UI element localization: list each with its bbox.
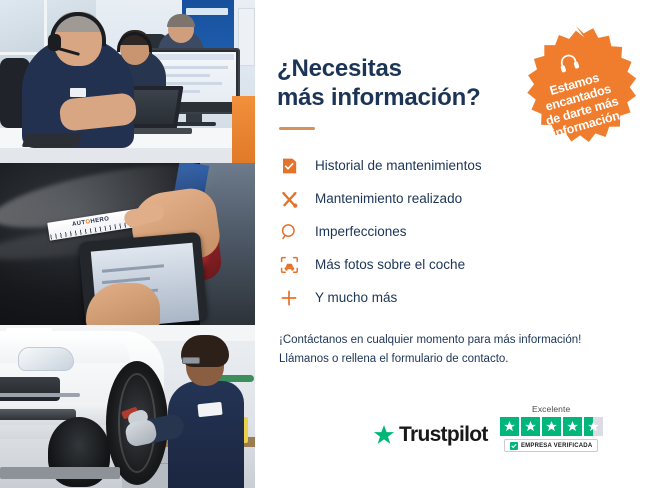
photo-column: AUTOHERO xyxy=(0,0,255,488)
star-filled xyxy=(563,417,582,436)
badge-text: Estamos encantados de darte más informac… xyxy=(536,67,623,141)
call-center-agents-photo xyxy=(0,0,255,163)
star-filled xyxy=(500,417,519,436)
list-item: Mantenimiento realizado xyxy=(279,183,624,216)
list-item-label: Más fotos sobre el coche xyxy=(315,258,465,272)
mechanic-wheel-photo xyxy=(0,325,255,488)
page-title: ¿Necesitas más información? xyxy=(277,54,507,113)
verified-check-icon xyxy=(510,442,518,450)
trustpilot-score-block: Excelente EMPRESA VERIFICADA xyxy=(500,404,603,452)
checklist-document-icon xyxy=(279,156,299,176)
car-photo-frame-icon xyxy=(279,255,299,275)
information-banner: AUTOHERO xyxy=(0,0,650,488)
promo-starburst-badge: Estamos encantados de darte más informac… xyxy=(510,24,642,156)
trustpilot-wordmark: Trustpilot xyxy=(399,423,488,447)
heading-line-2: más información? xyxy=(277,84,481,111)
trustpilot-star-icon xyxy=(373,424,395,446)
feature-list: Historial de mantenimientos Mantenimient… xyxy=(279,150,624,315)
car-inspection-ruler-photo: AUTOHERO xyxy=(0,163,255,325)
list-item: Más fotos sobre el coche xyxy=(279,249,624,282)
list-item: Imperfecciones xyxy=(279,216,624,249)
content-panel: ¿Necesitas más información? Historial de… xyxy=(255,0,650,488)
star-filled xyxy=(542,417,561,436)
heading-underline-accent xyxy=(279,127,315,130)
list-item-label: Historial de mantenimientos xyxy=(315,159,482,173)
star-filled xyxy=(521,417,540,436)
contact-line-2: Llámanos o rellena el formulario de cont… xyxy=(279,353,509,365)
trustpilot-logo: Trustpilot xyxy=(373,423,488,452)
trustpilot-rating[interactable]: Trustpilot Excelente EMPRESA VERIFICADA xyxy=(373,404,603,452)
list-item-label: Imperfecciones xyxy=(315,225,407,239)
heading-line-1: ¿Necesitas xyxy=(277,55,402,82)
wrench-screwdriver-icon xyxy=(279,189,299,209)
star-rating xyxy=(500,417,603,436)
plus-icon xyxy=(279,288,299,308)
magnifier-icon xyxy=(279,222,299,242)
star-half xyxy=(584,417,603,436)
list-item-label: Mantenimiento realizado xyxy=(315,192,462,206)
list-item: Y mucho más xyxy=(279,282,624,315)
verified-business-badge: EMPRESA VERIFICADA xyxy=(504,439,598,452)
contact-line-1: ¡Contáctanos en cualquier momento para m… xyxy=(279,334,581,346)
rating-label: Excelente xyxy=(532,404,570,414)
list-item-label: Y mucho más xyxy=(315,291,397,305)
verified-label: EMPRESA VERIFICADA xyxy=(521,443,592,449)
contact-paragraph: ¡Contáctanos en cualquier momento para m… xyxy=(279,331,619,369)
